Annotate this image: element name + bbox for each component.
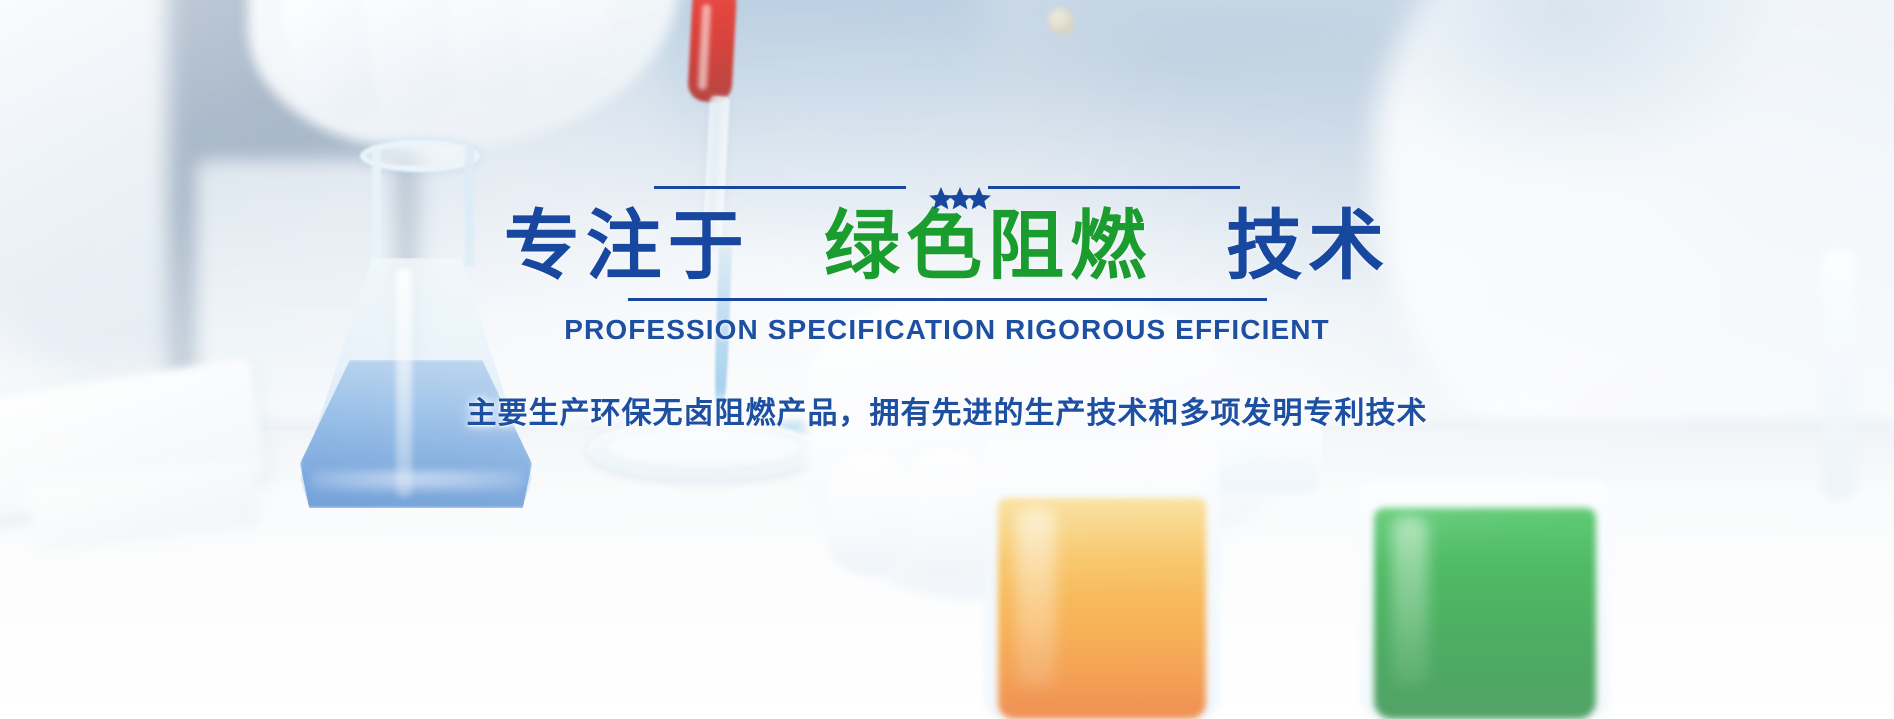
orange-beaker-shine (1016, 508, 1056, 688)
lab-background-photo (0, 0, 1894, 719)
petri-dish-inner (608, 430, 800, 466)
coat-button-icon (1048, 8, 1074, 34)
hero-banner: 专注于 绿色阻燃 技术 PROFESSION SPECIFICATION RIG… (0, 0, 1894, 719)
small-beaker-icon (1204, 424, 1322, 496)
flask-highlight (396, 268, 412, 498)
flask-base-glow (312, 470, 522, 492)
pipette-icon (687, 0, 737, 103)
flask-neck (372, 146, 474, 266)
green-beaker-shine (1392, 516, 1428, 686)
glove-finger (904, 447, 988, 580)
glove-finger (824, 449, 910, 576)
test-tube-icon (1822, 250, 1856, 500)
